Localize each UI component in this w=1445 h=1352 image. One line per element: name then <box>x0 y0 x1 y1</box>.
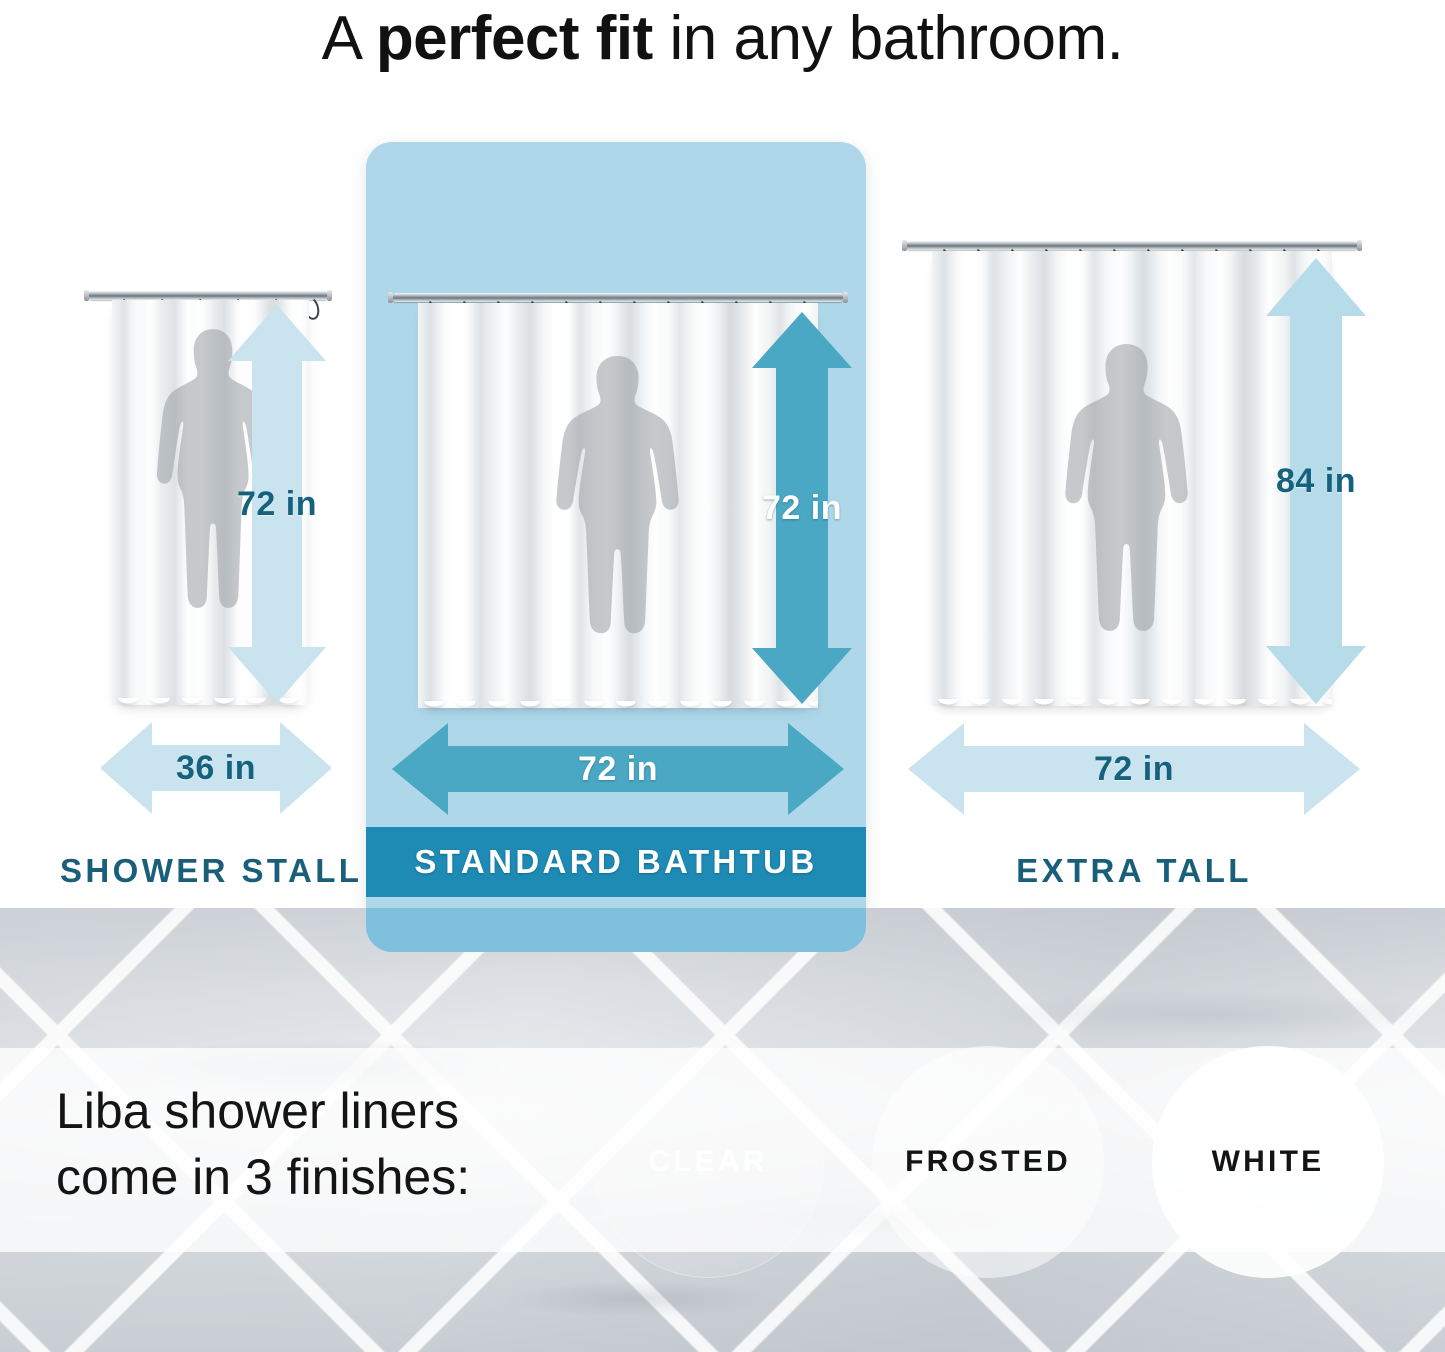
finish-swatch-clear[interactable]: CLEAR <box>592 1046 824 1278</box>
caption-extra-tall: EXTRA TALL <box>984 852 1284 890</box>
highlight-card-foot <box>366 908 866 952</box>
width-arrow-shower-stall: 36 in <box>100 722 332 814</box>
height-arrow-standard-bathtub: 72 in <box>752 312 852 704</box>
width-label-standard-bathtub: 72 in <box>578 750 658 789</box>
finishes-intro-line1: Liba shower liners <box>56 1078 576 1144</box>
height-label-standard-bathtub: 72 in <box>762 489 842 528</box>
product-infographic: A perfect fit in any bathroom. <box>0 0 1445 1352</box>
caption-standard-bathtub: STANDARD BATHTUB <box>366 827 866 897</box>
finish-label-frosted: FROSTED <box>905 1145 1071 1179</box>
finishes-intro-line2: come in 3 finishes: <box>56 1144 576 1210</box>
person-silhouette-icon <box>551 352 684 702</box>
height-label-shower-stall: 72 in <box>237 485 317 524</box>
headline-emphasis: perfect fit <box>376 4 653 73</box>
width-label-extra-tall: 72 in <box>1094 750 1174 789</box>
width-arrow-standard-bathtub: 72 in <box>392 723 844 815</box>
finish-label-white: WHITE <box>1212 1145 1325 1179</box>
width-arrow-extra-tall: 72 in <box>908 723 1360 815</box>
size-comparison-stage: A perfect fit in any bathroom. <box>0 0 1445 908</box>
finishes-intro: Liba shower liners come in 3 finishes: <box>56 1078 576 1210</box>
height-label-extra-tall: 84 in <box>1276 462 1356 501</box>
height-arrow-shower-stall: 72 in <box>228 305 326 703</box>
headline-lead: A <box>322 4 376 73</box>
person-silhouette-icon <box>1060 340 1193 702</box>
finish-swatch-frosted[interactable]: FROSTED <box>872 1046 1104 1278</box>
finish-label-clear: CLEAR <box>648 1145 767 1179</box>
height-arrow-extra-tall: 84 in <box>1266 258 1366 704</box>
headline-tail: in any bathroom. <box>653 4 1124 73</box>
finish-swatch-white[interactable]: WHITE <box>1152 1046 1384 1278</box>
caption-shower-stall: SHOWER STALL <box>60 852 360 890</box>
width-label-shower-stall: 36 in <box>176 749 256 788</box>
page-title: A perfect fit in any bathroom. <box>0 6 1445 71</box>
